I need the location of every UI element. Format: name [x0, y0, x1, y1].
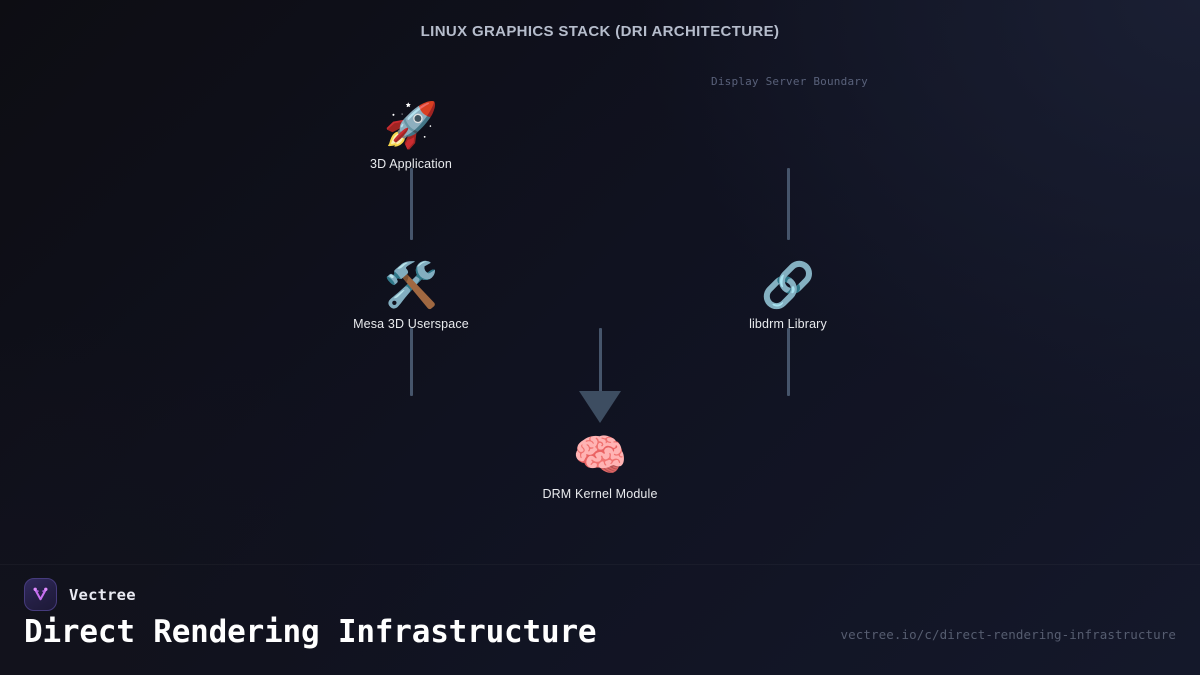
node-mesa-3d-userspace[interactable]: 🛠️ Mesa 3D Userspace — [311, 260, 511, 331]
edge-app-to-mesa — [410, 168, 413, 240]
link-icon: 🔗 — [688, 260, 888, 312]
edge-boundary-upper — [787, 168, 790, 240]
node-3d-application[interactable]: 🚀 3D Application — [311, 100, 511, 171]
display-server-boundary-label: Display Server Boundary — [711, 75, 868, 88]
rocket-icon: 🚀 — [311, 100, 511, 152]
edge-arrowhead-to-drm — [579, 391, 621, 423]
node-drm-kernel-module[interactable]: 🧠 DRM Kernel Module — [500, 430, 700, 501]
edge-libdrm-to-drm — [599, 328, 602, 393]
node-label-libdrm-library: libdrm Library — [688, 317, 888, 331]
brand-name: Vectree — [69, 586, 136, 604]
brain-icon: 🧠 — [500, 430, 700, 482]
brand-row[interactable]: Vectree — [24, 578, 136, 611]
footer-headline: Direct Rendering Infrastructure — [24, 614, 596, 650]
edge-boundary-lower — [787, 328, 790, 396]
diagram-canvas: LINUX GRAPHICS STACK (DRI ARCHITECTURE) … — [0, 0, 1200, 565]
edge-mesa-to-drm — [410, 328, 413, 396]
hammer-and-wrench-icon: 🛠️ — [311, 260, 511, 312]
node-label-mesa-3d-userspace: Mesa 3D Userspace — [311, 317, 511, 331]
vectree-logo-icon — [24, 578, 57, 611]
footer-url[interactable]: vectree.io/c/direct-rendering-infrastruc… — [840, 627, 1176, 642]
diagram-title: LINUX GRAPHICS STACK (DRI ARCHITECTURE) — [0, 23, 1200, 40]
node-libdrm-library[interactable]: 🔗 libdrm Library — [688, 260, 888, 331]
footer: Vectree Direct Rendering Infrastructure … — [0, 565, 1200, 675]
node-label-3d-application: 3D Application — [311, 157, 511, 171]
node-label-drm-kernel-module: DRM Kernel Module — [500, 487, 700, 501]
